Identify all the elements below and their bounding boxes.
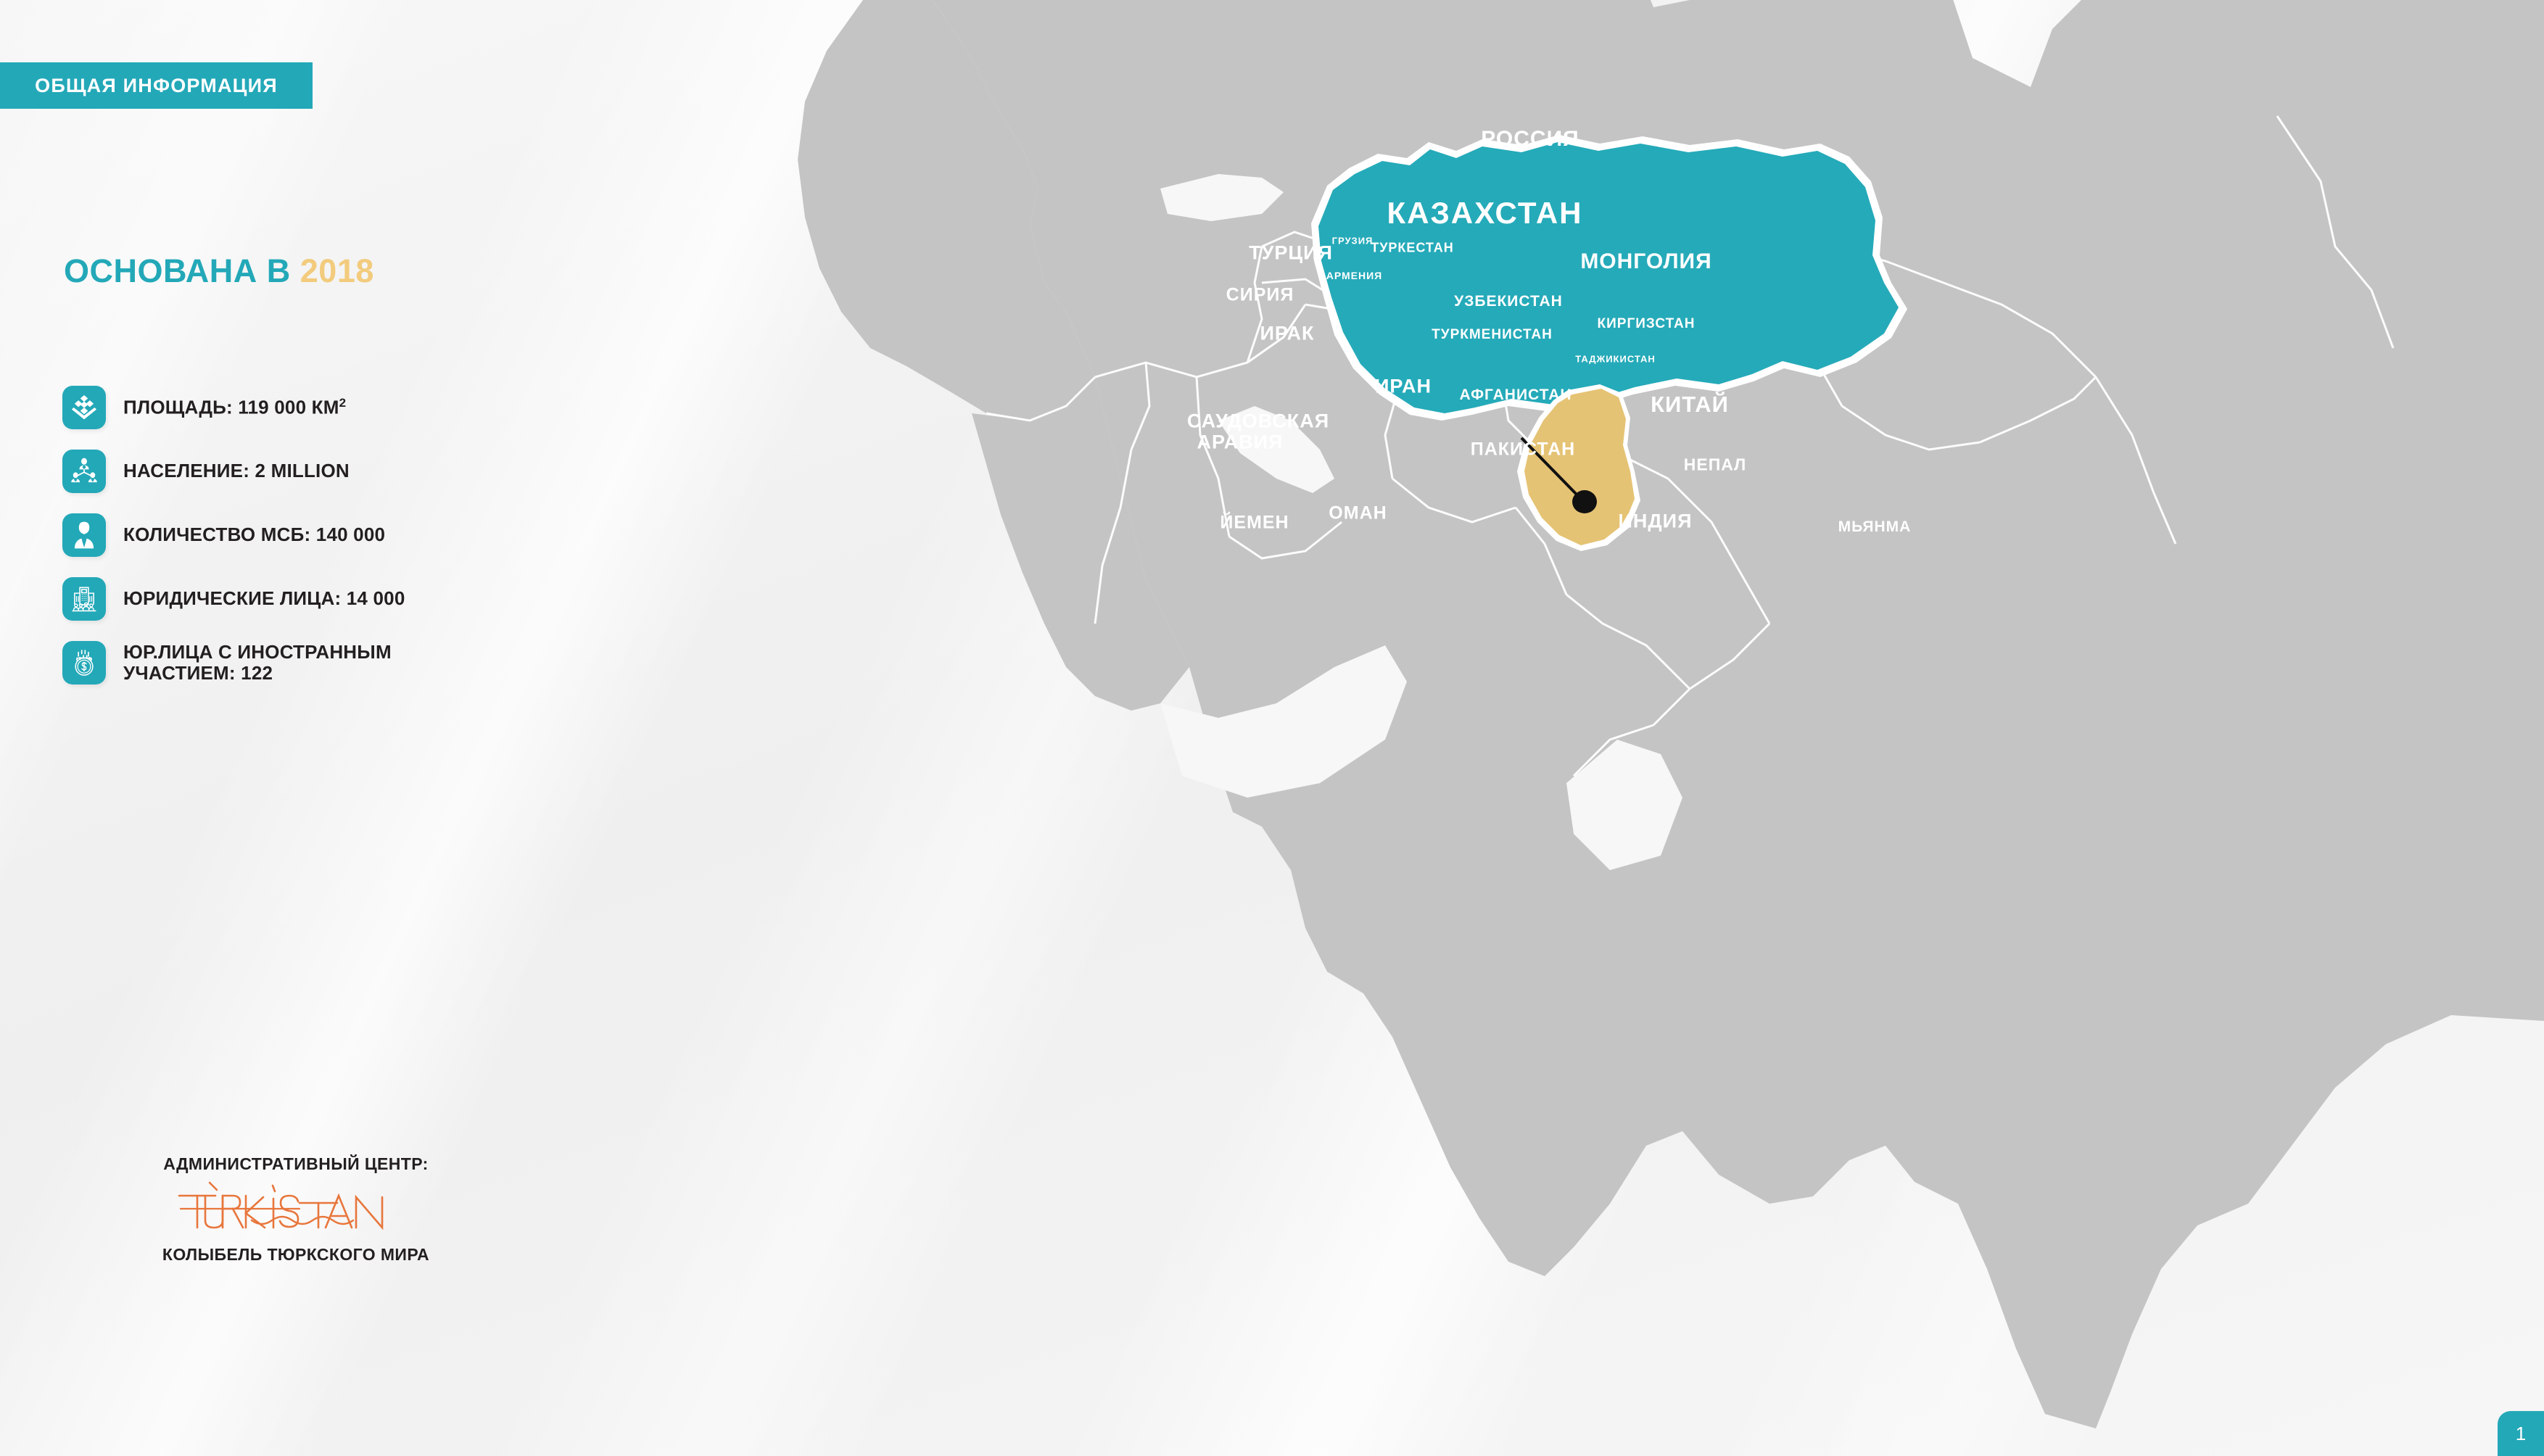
org-chart-icon <box>62 450 106 493</box>
black-sea <box>1160 174 1284 221</box>
slide-canvas: КАЗАХСТАН ТУРКЕСТАН РОССИЯ МОНГОЛИЯ КИТА… <box>0 0 2544 1456</box>
country-borders <box>986 116 2393 776</box>
map-label-20: ИНДИЯ <box>1619 510 1693 532</box>
stat-value-area: 119 000 КМ <box>238 397 339 418</box>
stat-sup-area: 2 <box>339 396 347 410</box>
aral-sea <box>1405 196 1440 261</box>
stat-value-legal-entities: 14 000 <box>347 587 405 609</box>
map-label-10: АРАВИЯ <box>1197 431 1284 453</box>
stat-row-area: ПЛОЩАДЬ: 119 000 КМ2 <box>62 384 715 430</box>
map-label-16: ТАДЖИКИСТАН <box>1575 354 1656 365</box>
turkistan-region <box>1517 384 1640 551</box>
map-label-17: АФГАНИСТАН <box>1459 386 1572 404</box>
turkistan-halo <box>1517 384 1640 551</box>
admin-center-tagline: КОЛЫБЕЛЬ ТЮРКСКОГО МИРА <box>64 1245 528 1265</box>
map-label-6: СИРИЯ <box>1226 285 1294 306</box>
map-label-14: УЗБЕКИСТАН <box>1454 293 1563 310</box>
map-label-18: ПАКИСТАН <box>1471 439 1576 460</box>
turkistan-leader-line <box>1521 438 1579 497</box>
map-label-7: ИРАК <box>1260 322 1314 344</box>
map-label-4: ГРУЗИЯ <box>1332 236 1374 247</box>
businessman-icon <box>62 513 106 557</box>
page-number-badge: 1 <box>2498 1411 2544 1456</box>
office-building-icon <box>62 577 106 621</box>
stat-label-legal-entities-text: ЮРИДИЧЕСКИЕ ЛИЦА: <box>123 587 347 609</box>
map-label-13: ТУРКМЕНИСТАН <box>1432 327 1553 343</box>
map-label-9: САУДОВСКАЯ <box>1187 410 1329 432</box>
stat-label-area-text: ПЛОЩАДЬ: <box>123 397 238 418</box>
kazakhstan-halo <box>1311 135 1907 421</box>
stat-row-sme: КОЛИЧЕСТВО МСБ: 140 000 <box>62 512 715 558</box>
turkistan-city-dot <box>1572 490 1597 513</box>
map-label-kazakhstan: КАЗАХСТАН <box>1387 196 1583 231</box>
stat-label-foreign-entities-line2: УЧАСТИЕМ: <box>123 662 241 684</box>
kazakhstan-fill <box>1318 142 1899 413</box>
anatolia-landmass <box>798 0 1095 421</box>
map-label-0: РОССИЯ <box>1481 127 1579 152</box>
stat-value-sme: 140 000 <box>316 524 385 545</box>
turkistan-logo: TÚRKISTAN <box>64 1178 528 1236</box>
stat-label-sme: КОЛИЧЕСТВО МСБ: 140 000 <box>123 524 385 545</box>
layers-icon <box>62 386 106 429</box>
stats-list: ПЛОЩАДЬ: 119 000 КМ2 НАСЕ <box>62 384 715 703</box>
turkistan-city-marker <box>1521 438 1597 513</box>
turkistan-logo-mark: TÚRKISTAN <box>176 1178 416 1236</box>
admin-center-caption: АДМИНИСТРАТИВНЫЙ ЦЕНТР: <box>64 1154 528 1174</box>
map-label-2: КИТАЙ <box>1651 392 1729 418</box>
stat-value-population: 2 MILLION <box>255 460 350 481</box>
map-label-5: АРМЕНИЯ <box>1326 270 1383 281</box>
stat-value-foreign-entities: 122 <box>241 662 273 684</box>
region-map: КАЗАХСТАН ТУРКЕСТАН РОССИЯ МОНГОЛИЯ КИТА… <box>754 0 2544 1456</box>
map-label-15: КИРГИЗСТАН <box>1598 316 1696 332</box>
persian-gulf <box>1218 406 1334 493</box>
admin-center-block: АДМИНИСТРАТИВНЫЙ ЦЕНТР: TÚRKISTAN <box>64 1154 528 1265</box>
page-title-year: 2018 <box>300 252 374 289</box>
page-title: ОСНОВАНА В 2018 <box>64 252 374 290</box>
arabia-landmass <box>972 377 1189 711</box>
map-label-turkistan: ТУРКЕСТАН <box>1371 241 1454 256</box>
kazakhstan-shape <box>1311 135 1907 421</box>
map-label-1: МОНГОЛИЯ <box>1580 249 1711 274</box>
stat-label-sme-text: КОЛИЧЕСТВО МСБ: <box>123 524 316 545</box>
arabian-sea <box>1160 645 1407 798</box>
stat-label-legal-entities: ЮРИДИЧЕСКИЕ ЛИЦА: 14 000 <box>123 588 405 608</box>
map-label-19: НЕПАЛ <box>1684 455 1747 475</box>
map-label-3: ТУРЦИЯ <box>1249 241 1333 264</box>
page-number-value: 1 <box>2516 1423 2526 1445</box>
stat-row-foreign-entities: ЮР.ЛИЦА С ИНОСТРАННЫМУЧАСТИЕМ: 122 <box>62 640 715 685</box>
turkistan-fill <box>1524 389 1635 545</box>
stat-label-population: НАСЕЛЕНИЕ: 2 MILLION <box>123 460 350 481</box>
stat-label-area: ПЛОЩАДЬ: 119 000 КМ2 <box>123 397 346 418</box>
map-label-11: ЙЕМЕН <box>1220 512 1289 533</box>
map-label-12: ОМАН <box>1329 503 1387 524</box>
stat-label-foreign-entities: ЮР.ЛИЦА С ИНОСТРАННЫМУЧАСТИЕМ: 122 <box>123 642 392 682</box>
page-title-prefix: ОСНОВАНА В <box>64 252 300 289</box>
map-label-21: МЬЯНМА <box>1838 518 1912 536</box>
map-label-8: ИРАН <box>1375 375 1432 397</box>
water-bodies <box>1160 174 1682 870</box>
eurasia-landmass <box>910 0 2544 1428</box>
section-banner: ОБЩАЯ ИНФОРМАЦИЯ <box>0 62 313 109</box>
bay-of-bengal <box>1566 740 1682 870</box>
stat-label-foreign-entities-line1: ЮР.ЛИЦА С ИНОСТРАННЫМ <box>123 642 392 662</box>
dollar-coin-icon <box>62 641 106 684</box>
stat-row-legal-entities: ЮРИДИЧЕСКИЕ ЛИЦА: 14 000 <box>62 576 715 621</box>
stat-row-population: НАСЕЛЕНИЕ: 2 MILLION <box>62 448 715 494</box>
section-banner-label: ОБЩАЯ ИНФОРМАЦИЯ <box>35 75 278 97</box>
stat-label-population-text: НАСЕЛЕНИЕ: <box>123 460 255 481</box>
caspian-sea <box>1316 181 1392 312</box>
landmass-group <box>798 0 2544 1428</box>
map-svg <box>754 0 2544 1456</box>
